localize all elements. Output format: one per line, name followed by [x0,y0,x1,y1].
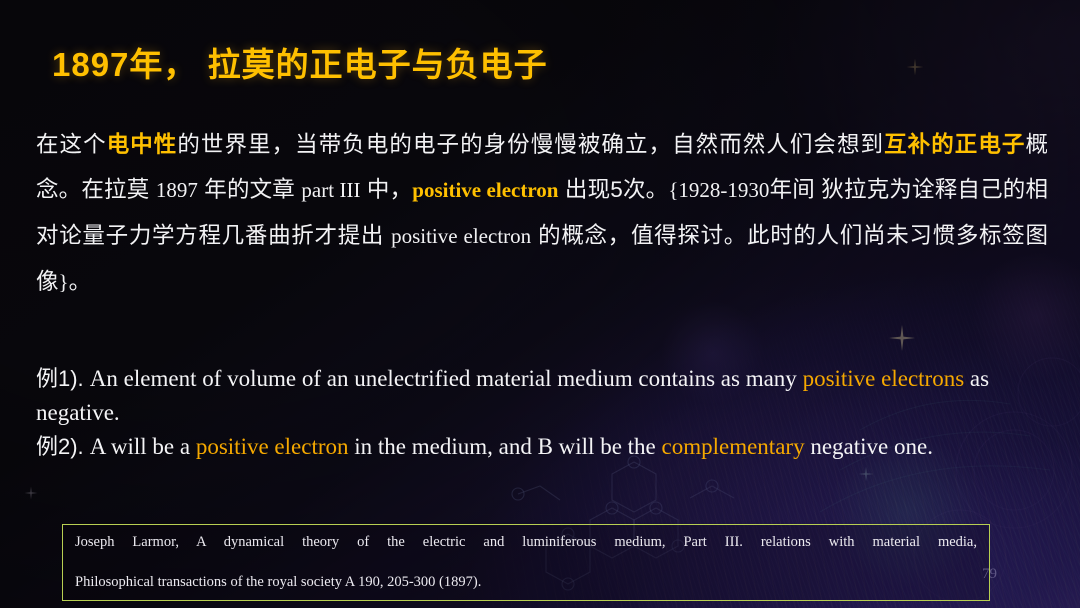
example-item: 例1). An element of volume of an unelectr… [36,362,1052,430]
example-label: 例1). [36,366,90,391]
body-seg-17: 。 [69,269,92,294]
sparkle-icon-tiny [24,486,38,500]
body-seg-7: 年的文章 [204,177,295,202]
example-quotes: 例1). An element of volume of an unelectr… [36,362,1052,464]
example-part: in the medium, and B will be the [349,434,662,459]
body-highlight-positive-electron: positive electron [412,178,558,202]
sparkle-icon [888,324,916,352]
body-year-1897: 1897 [156,178,198,202]
example-item: 例2). A will be a positive electron in th… [36,430,1052,464]
sparkle-icon-cyan [858,466,874,482]
citation-box: Joseph Larmor, A dynamical theory of the… [62,524,990,601]
presentation-slide: 1897年， 拉莫的正电子与负电子 在这个电中性的世界里，当带负电的电子的身份慢… [0,0,1080,608]
body-seg-1: 在这个 [36,132,107,157]
example-part: A will be a [90,434,196,459]
citation-line-1: Joseph Larmor, A dynamical theory of the… [75,532,977,572]
example-part-highlight: positive electron [196,434,349,459]
body-positive-electron-plain: positive electron [391,224,531,248]
body-seg-9: 中， [367,177,412,202]
body-highlight-charge-neutral: 电中性 [107,132,178,157]
example-part-highlight: complementary [662,434,805,459]
example-part-highlight: positive electrons [803,366,965,391]
example-part: negative one. [805,434,933,459]
example-part: An element of volume of an unelectrified… [90,366,803,391]
slide-title: 1897年， 拉莫的正电子与负电子 [52,38,548,86]
sparkle-icon-small [906,58,924,76]
example-label: 例2). [36,434,90,459]
body-bracket-open-years: {1928-1930 [668,178,769,202]
body-part-iii: part III [301,178,360,202]
page-number: 79 [982,566,997,583]
body-paragraph-text: 在这个电中性的世界里，当带负电的电子的身份慢慢被确立，自然而然人们会想到互补的正… [36,122,1048,305]
body-bracket-close: } [59,270,69,294]
body-seg-3: 的世界里，当带负电的电子的身份慢慢被确立，自然而然人们会想到 [177,132,884,157]
body-highlight-complementary-positron: 互补的正电子 [884,132,1025,157]
body-paragraph: 在这个电中性的世界里，当带负电的电子的身份慢慢被确立，自然而然人们会想到互补的正… [36,122,1048,305]
body-seg-11: 出现5次。 [565,177,668,202]
citation-line-2: Philosophical transactions of the royal … [75,572,977,592]
